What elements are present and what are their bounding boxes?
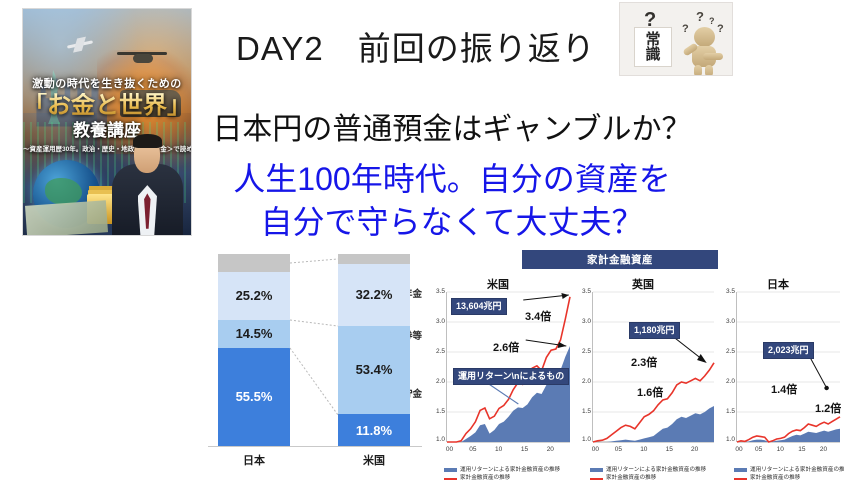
ytick-uk-1_5: 1.5 <box>572 408 591 415</box>
xtick-jp-10: 10 <box>777 446 784 453</box>
ytick-jp-1_0: 1.0 <box>716 436 735 443</box>
legend-swatch-red <box>734 478 747 480</box>
question-mark-icon-3: ? <box>709 16 715 26</box>
xtick-uk-05: 05 <box>615 446 622 453</box>
ytick-uk-3_0: 3.0 <box>572 318 591 325</box>
callout-us-amount: 13,604兆円 <box>451 298 507 315</box>
household-financial-assets-chart: 家計金融資産 米国 3.5 3.0 2.5 2.0 1.5 1.0 <box>424 248 842 481</box>
legend-label-total: 家計金融資産の推移 <box>460 474 510 483</box>
segment-securities-jp: 14.5% <box>218 320 290 348</box>
question-heading-line2: 人生100年時代。自分の資産を <box>0 154 844 200</box>
chart-legend-uk: 運用リターンによる家計金融資産の推移 家計金融資産の推移 <box>590 466 706 483</box>
multiplier-japan-return: 1.2倍 <box>815 400 841 416</box>
household-asset-composition-chart: 保険・年金 株式・債券等 預貯金 25.2% 14.5% 55.5% 32.2%… <box>130 246 422 478</box>
question-heading-line3: 自分で守らなくて大丈夫？ <box>0 197 844 243</box>
figure-leg-left <box>694 65 702 76</box>
chart-legend-us: 運用リターンによる家計金融資産の推移 家計金融資産の推移 <box>444 466 560 483</box>
xtick-us-05: 05 <box>469 446 476 453</box>
legend-swatch-red <box>590 478 603 480</box>
xtick-us-20: 20 <box>547 446 554 453</box>
figure-arm-right <box>703 53 723 60</box>
ytick-uk-2_0: 2.0 <box>572 378 591 385</box>
ytick-us-2_0: 2.0 <box>426 378 445 385</box>
chart-header-banner: 家計金融資産 <box>522 250 718 269</box>
figure-leg-right <box>705 65 713 76</box>
legend-swatch-red <box>444 478 457 480</box>
xtick-uk-10: 10 <box>640 446 647 453</box>
chart-legend-japan: 運用リターンによる家計金融資産の推移 家計金融資産の推移 <box>734 466 844 483</box>
figure-head <box>694 27 715 47</box>
bar-columns: 25.2% 14.5% 55.5% 32.2% 53.4% 11.8% <box>218 254 422 446</box>
segment-other-jp <box>218 254 290 272</box>
page-title: DAY2 前回の振り返り <box>236 22 596 70</box>
xtick-us-15: 15 <box>521 446 528 453</box>
bar-connector-lines <box>290 254 338 446</box>
ytick-us-3_5: 3.5 <box>426 288 445 295</box>
bar-column-japan[interactable]: 25.2% 14.5% 55.5% <box>218 254 290 446</box>
legend-label-return: 運用リターンによる家計金融資産の推移 <box>750 466 844 475</box>
joshiki-card-top: 常 <box>645 32 660 47</box>
plot-area-us: 3.5 3.0 2.5 2.0 1.5 1.0 13,604兆円 <box>446 292 570 442</box>
bar-xaxis-label-us: 米国 <box>338 452 410 468</box>
legend-swatch-blue <box>444 468 457 472</box>
question-heading-line1: 日本円の普通預金はギャンブルか？ <box>0 104 844 148</box>
segment-insurance-jp: 25.2% <box>218 272 290 320</box>
plot-area-japan: 3.5 3.0 2.5 2.0 1.5 1.0 2,023兆円 1.4倍 1.2… <box>736 292 840 442</box>
legend-label-total: 家計金融資産の推移 <box>606 474 656 483</box>
annotation-us-return: 運用リターン\nによるもの <box>453 368 569 385</box>
segment-deposits-us: 11.8% <box>338 414 410 446</box>
panel-title-us: 米国 <box>424 276 572 292</box>
chart-panel-uk: 英国 3.5 3.0 2.5 2.0 1.5 1.0 1,180兆円 2.3倍 <box>570 276 716 481</box>
book-cover-tagline: 激動の時代を生き抜くための <box>23 79 191 91</box>
plot-area-uk: 3.5 3.0 2.5 2.0 1.5 1.0 1,180兆円 2.3倍 1.6… <box>592 292 714 442</box>
ytick-us-3_0: 3.0 <box>426 318 445 325</box>
ytick-uk-2_5: 2.5 <box>572 348 591 355</box>
legend-label-return: 運用リターンによる家計金融資産の推移 <box>460 466 560 475</box>
xtick-uk-00: 00 <box>592 446 599 453</box>
xtick-uk-20: 20 <box>691 446 698 453</box>
legend-label-total: 家計金融資産の推移 <box>750 474 800 483</box>
question-mark-icon-2: ? <box>696 9 704 24</box>
segment-securities-us: 53.4% <box>338 326 410 414</box>
common-sense-illustration: ? 常 識 ? ? ? ? <box>619 2 733 76</box>
chart-panel-us: 米国 3.5 3.0 2.5 2.0 1.5 1.0 <box>424 276 572 481</box>
ytick-jp-2_5: 2.5 <box>716 348 735 355</box>
multiplier-uk-return: 1.6倍 <box>637 384 663 400</box>
ytick-jp-1_5: 1.5 <box>716 408 735 415</box>
segment-other-us <box>338 254 410 264</box>
callout-japan-amount: 2,023兆円 <box>763 342 814 359</box>
legend-swatch-blue <box>590 468 603 472</box>
bar-chart-axis <box>208 446 422 447</box>
callout-uk-amount: 1,180兆円 <box>629 322 680 339</box>
chart-panel-japan: 日本 3.5 3.0 2.5 2.0 1.5 1.0 2,023兆円 1.4倍 <box>714 276 842 481</box>
joshiki-card: 常 識 <box>634 27 672 67</box>
ytick-uk-1_0: 1.0 <box>572 436 591 443</box>
segment-deposits-jp: 55.5% <box>218 348 290 446</box>
ytick-jp-3_5: 3.5 <box>716 288 735 295</box>
multiplier-us-return: 2.6倍 <box>493 339 519 355</box>
plot-svg-japan <box>737 292 840 442</box>
ytick-us-2_5: 2.5 <box>426 348 445 355</box>
ytick-uk-3_5: 3.5 <box>572 288 591 295</box>
bar-xaxis-label-japan: 日本 <box>218 452 290 468</box>
ytick-us-1_0: 1.0 <box>426 436 445 443</box>
helicopter-icon <box>117 52 167 55</box>
xtick-jp-20: 20 <box>820 446 827 453</box>
multiplier-japan-total: 1.4倍 <box>771 381 797 397</box>
joshiki-card-bottom: 識 <box>645 47 660 62</box>
segment-insurance-us: 32.2% <box>338 264 410 326</box>
legend-swatch-blue <box>734 468 747 472</box>
bar-column-us[interactable]: 32.2% 53.4% 11.8% <box>338 254 410 446</box>
panel-title-uk: 英国 <box>570 276 716 292</box>
xtick-jp-15: 15 <box>798 446 805 453</box>
ytick-jp-2_0: 2.0 <box>716 378 735 385</box>
ytick-jp-3_0: 3.0 <box>716 318 735 325</box>
ytick-us-1_5: 1.5 <box>426 408 445 415</box>
xtick-uk-15: 15 <box>666 446 673 453</box>
multiplier-us-total: 3.4倍 <box>525 308 551 324</box>
xtick-us-10: 10 <box>495 446 502 453</box>
multiplier-uk-total: 2.3倍 <box>631 354 657 370</box>
xtick-jp-00: 00 <box>735 446 742 453</box>
xtick-us-00: 00 <box>446 446 453 453</box>
thinking-figure-icon <box>682 27 726 75</box>
legend-label-return: 運用リターンによる家計金融資産の推移 <box>606 466 706 475</box>
xtick-jp-05: 05 <box>755 446 762 453</box>
